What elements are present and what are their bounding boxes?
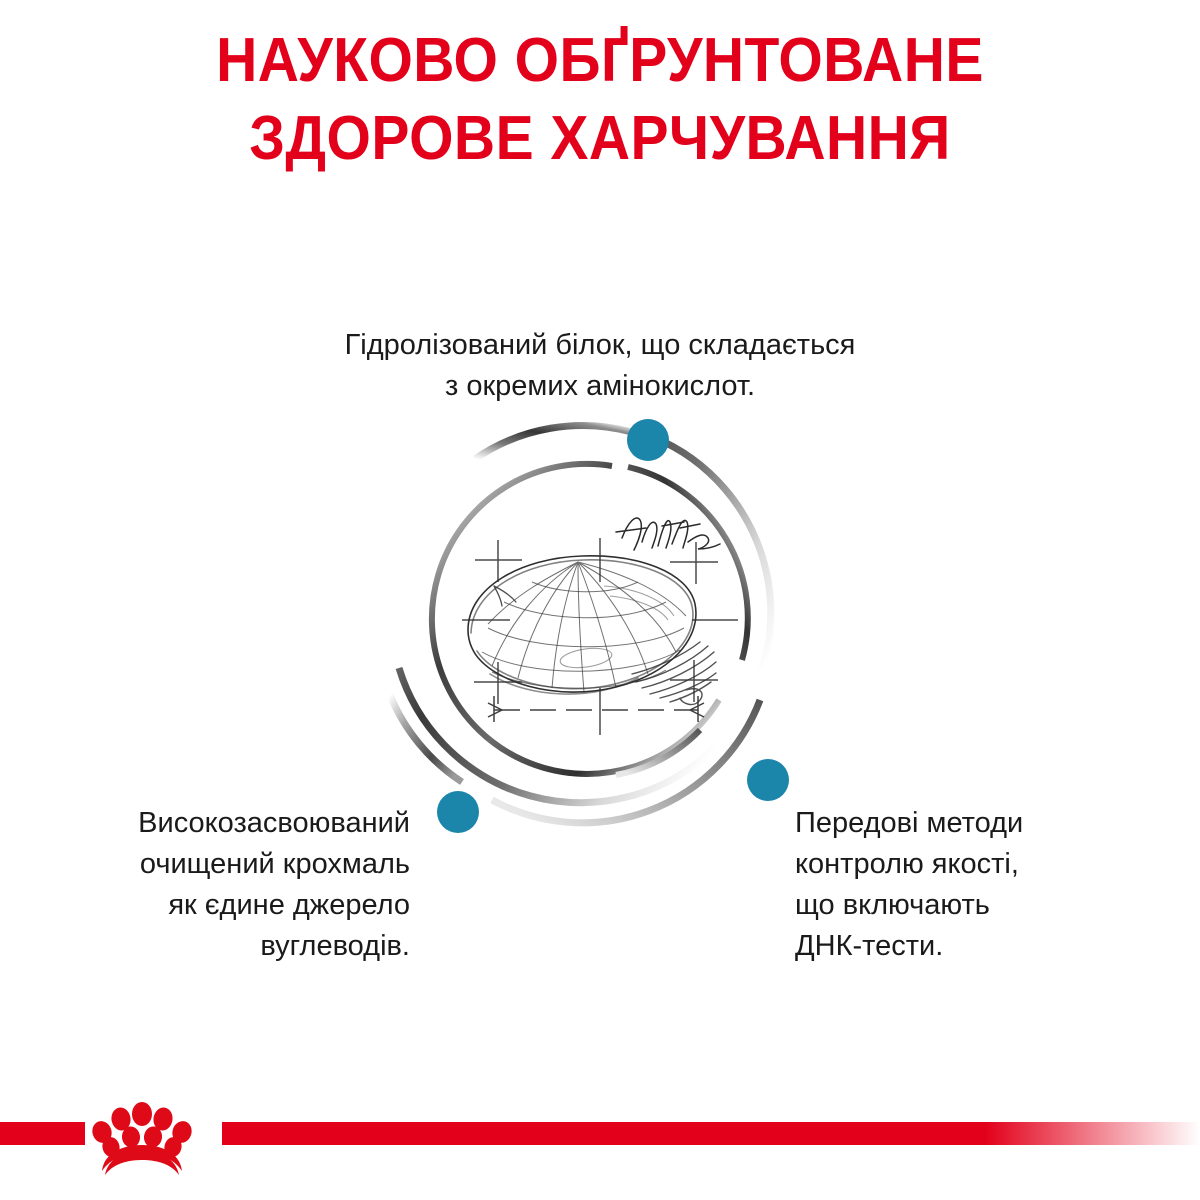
callout-right-line-1: Передові методи [795, 803, 1185, 844]
callout-right-line-4: ДНК-тести. [795, 926, 1185, 967]
royal-canin-crown-icon [78, 1087, 208, 1177]
callout-left-line-1: Високозасвоюваний [20, 803, 410, 844]
brand-bar-right-segment [222, 1122, 1200, 1145]
brand-bar-left-segment [0, 1122, 85, 1145]
outer-arc-ring-icon [390, 426, 771, 823]
callout-purified-starch: Високозасвоюваний очищений крохмаль як є… [20, 803, 410, 967]
ring-diagram [370, 390, 830, 850]
callout-quality-control: Передові методи контролю якості, що вклю… [795, 803, 1185, 967]
headline-line-2: ЗДОРОВЕ ХАРЧУВАННЯ [48, 100, 1152, 178]
ring-dot-bottom-left[interactable] [437, 791, 479, 833]
callout-left-line-3: як єдине джерело [20, 885, 410, 926]
headline-line-1: НАУКОВО ОБҐРУНТОВАНЕ [48, 22, 1152, 100]
callout-top-line-1: Гідролізований білок, що складається [200, 325, 1000, 366]
callout-left-line-2: очищений крохмаль [20, 844, 410, 885]
kibble-technical-sketch-icon [462, 518, 738, 735]
callout-right-line-3: що включають [795, 885, 1185, 926]
callout-left-line-4: вуглеводів. [20, 926, 410, 967]
page-title: НАУКОВО ОБҐРУНТОВАНЕ ЗДОРОВЕ ХАРЧУВАННЯ [48, 22, 1152, 178]
callout-right-line-2: контролю якості, [795, 844, 1185, 885]
ring-dot-top[interactable] [627, 419, 669, 461]
ring-dot-right[interactable] [747, 759, 789, 801]
